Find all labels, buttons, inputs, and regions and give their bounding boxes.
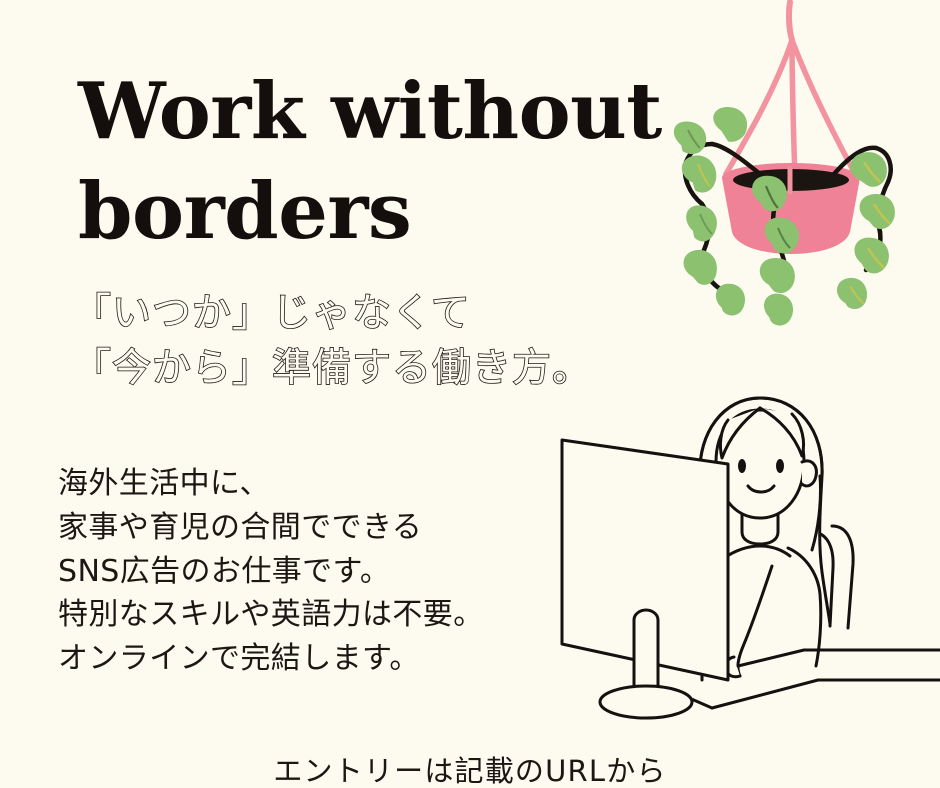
leaf xyxy=(858,192,896,231)
leaf xyxy=(683,204,719,244)
eye-right xyxy=(776,459,784,473)
eye-left xyxy=(738,459,746,473)
ear xyxy=(802,461,816,486)
hanging-plant-illustration xyxy=(664,0,940,332)
footer-call-to-action: エントリーは記載のURLから xyxy=(0,748,940,788)
leaf xyxy=(681,154,718,194)
leaf xyxy=(715,283,747,317)
poster-canvas: Work without borders 「いつか」じゃなくて 「今から」準備す… xyxy=(0,0,940,788)
woman-at-computer-illustration xyxy=(552,380,940,728)
page-title: Work without borders xyxy=(78,62,678,262)
leaf xyxy=(853,237,890,275)
subtitle-outlined: 「いつか」じゃなくて 「今から」準備する働き方。 xyxy=(72,286,632,397)
body-copy: 海外生活中に、 家事や育児の合間でできる SNS広告のお仕事です。 特別なスキル… xyxy=(58,462,558,681)
desk-front-edge xyxy=(712,680,940,708)
leaf xyxy=(759,257,796,295)
monitor-stand-base xyxy=(600,686,692,718)
desk-surface xyxy=(738,650,940,666)
leaf xyxy=(762,292,795,326)
leaf xyxy=(835,276,869,311)
plant-hanger-ropes xyxy=(726,2,854,180)
